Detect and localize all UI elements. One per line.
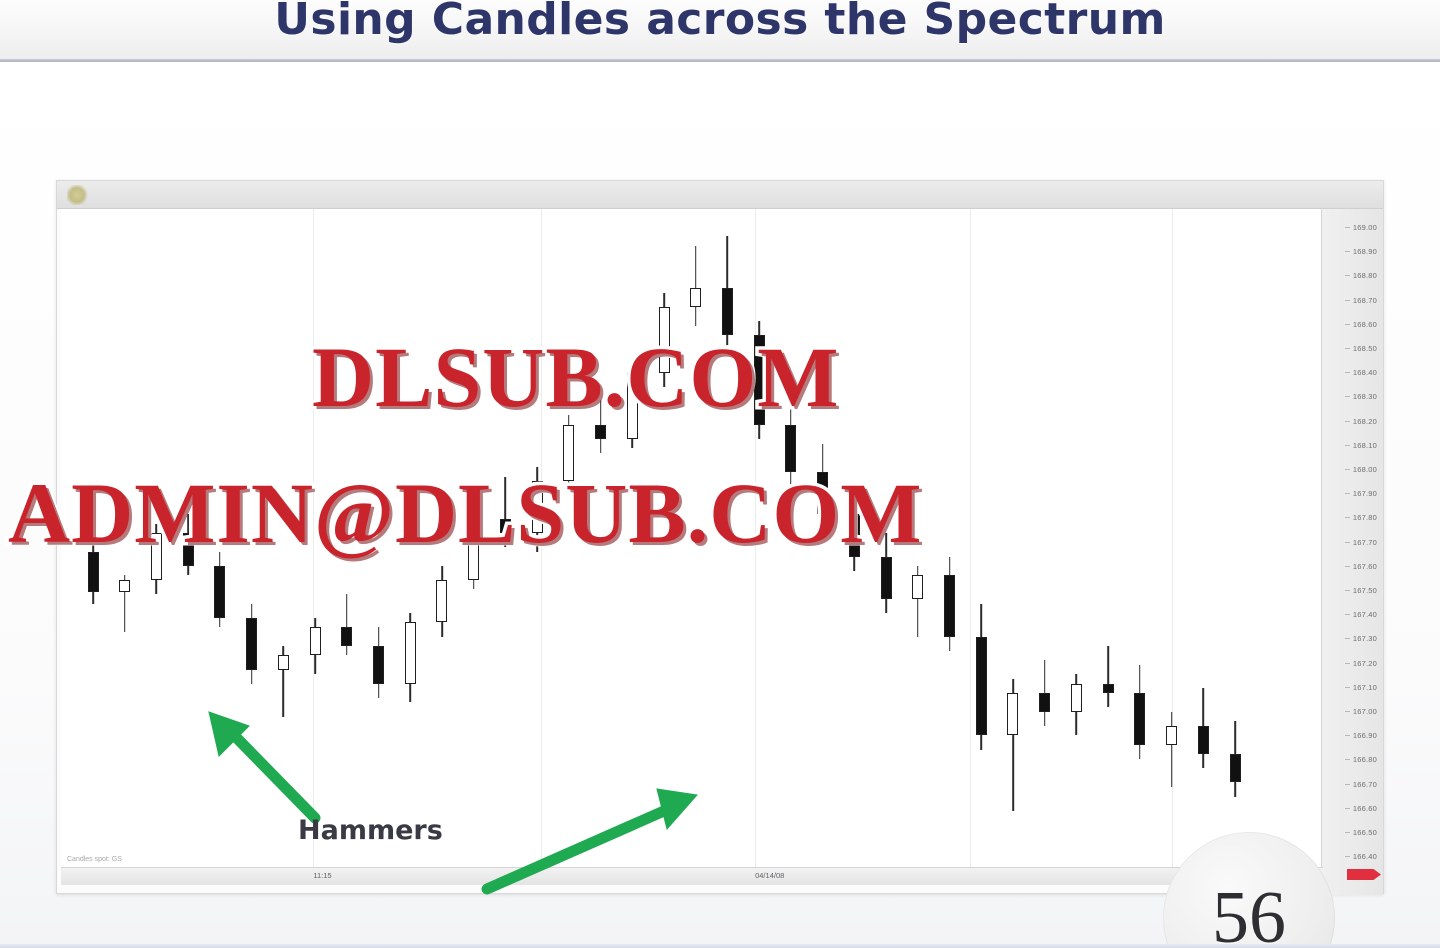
- candle-body: [912, 575, 923, 599]
- candle-body: [1103, 684, 1114, 693]
- page-number-value: 56: [1212, 876, 1286, 948]
- price-axis-tick: 166.60: [1353, 804, 1377, 813]
- candle-wick: [1107, 646, 1109, 707]
- candlestick: [1007, 209, 1018, 881]
- price-axis-tick: 166.40: [1353, 852, 1377, 861]
- slide-title-band: Using Candles across the Spectrum: [0, 0, 1440, 62]
- price-axis-tick: 167.60: [1353, 562, 1377, 571]
- price-axis-tick: 167.90: [1353, 489, 1377, 498]
- page-title: Using Candles across the Spectrum: [0, 0, 1440, 45]
- arrow-icon: [475, 781, 705, 901]
- candlestick: [944, 209, 955, 881]
- candle-body: [214, 566, 225, 618]
- candlestick: [976, 209, 987, 881]
- candle-body: [119, 580, 130, 592]
- price-axis-tick: 167.00: [1353, 707, 1377, 716]
- candle-body: [373, 646, 384, 684]
- candlestick: [1103, 209, 1114, 881]
- candle-wick: [1171, 712, 1173, 787]
- chart-footnote: Candles spot: GS: [67, 856, 122, 863]
- candlestick: [1166, 209, 1177, 881]
- candle-body: [976, 637, 987, 736]
- candle-body: [944, 575, 955, 636]
- price-axis-tick: 166.90: [1353, 731, 1377, 740]
- candle-body: [1230, 754, 1241, 782]
- candle-wick: [695, 246, 697, 326]
- app-logo-icon: [67, 185, 89, 205]
- price-axis-tick: 166.50: [1353, 828, 1377, 837]
- price-axis-tick: 168.80: [1353, 271, 1377, 280]
- candle-body: [310, 627, 321, 655]
- candle-body: [246, 618, 257, 670]
- time-axis-tick: 11:15: [313, 871, 331, 880]
- arrow-icon: [197, 706, 327, 826]
- price-axis-tick: 167.30: [1353, 634, 1377, 643]
- price-axis-tick: 168.10: [1353, 441, 1377, 450]
- candlestick: [1134, 209, 1145, 881]
- price-axis-tick: 166.80: [1353, 755, 1377, 764]
- price-axis-tick: 168.20: [1353, 417, 1377, 426]
- price-axis-tick: 167.10: [1353, 683, 1377, 692]
- price-axis-tick: 168.00: [1353, 465, 1377, 474]
- time-axis-tick: 04/14/08: [755, 871, 784, 880]
- chart-toolbar: [57, 181, 1383, 209]
- candle-body: [341, 627, 352, 646]
- price-axis-tick: 168.60: [1353, 320, 1377, 329]
- candle-body: [405, 622, 416, 683]
- price-axis: 169.00168.90168.80168.70168.60168.50168.…: [1321, 209, 1383, 895]
- price-axis-tick: 168.90: [1353, 247, 1377, 256]
- price-axis-tick: 169.00: [1353, 223, 1377, 232]
- footer-divider: [0, 944, 1440, 948]
- candle-body: [1198, 726, 1209, 754]
- price-axis-tick: 168.50: [1353, 344, 1377, 353]
- price-axis-tick: 167.50: [1353, 586, 1377, 595]
- candlestick: [1039, 209, 1050, 881]
- candlestick: [1198, 209, 1209, 881]
- price-axis-tick: 166.70: [1353, 780, 1377, 789]
- candle-body: [1166, 726, 1177, 745]
- watermark-line-2: ADMIN@DLSUB.COM: [8, 463, 922, 563]
- price-axis-tick: 167.80: [1353, 513, 1377, 522]
- candle-wick: [346, 594, 348, 655]
- watermark-line-1: DLSUB.COM: [312, 327, 839, 427]
- candle-body: [1134, 693, 1145, 745]
- price-axis-tick: 168.40: [1353, 368, 1377, 377]
- candlestick: [1230, 209, 1241, 881]
- candle-body: [436, 580, 447, 622]
- slide-root: Using Candles across the Spectrum GS - G…: [0, 0, 1440, 948]
- price-axis-tick: 167.20: [1353, 659, 1377, 668]
- candle-body: [278, 655, 289, 669]
- candle-body: [1071, 684, 1082, 712]
- candle-body: [1039, 693, 1050, 712]
- price-axis-tick: 168.30: [1353, 392, 1377, 401]
- current-price-marker: [1347, 869, 1381, 880]
- chart-gridline: [970, 209, 971, 881]
- candlestick: [1071, 209, 1082, 881]
- price-axis-tick: 167.70: [1353, 538, 1377, 547]
- price-axis-tick: 168.70: [1353, 296, 1377, 305]
- hammers-label: Hammers: [298, 815, 443, 846]
- candle-body: [1007, 693, 1018, 735]
- price-axis-tick: 167.40: [1353, 610, 1377, 619]
- candle-body: [690, 288, 701, 307]
